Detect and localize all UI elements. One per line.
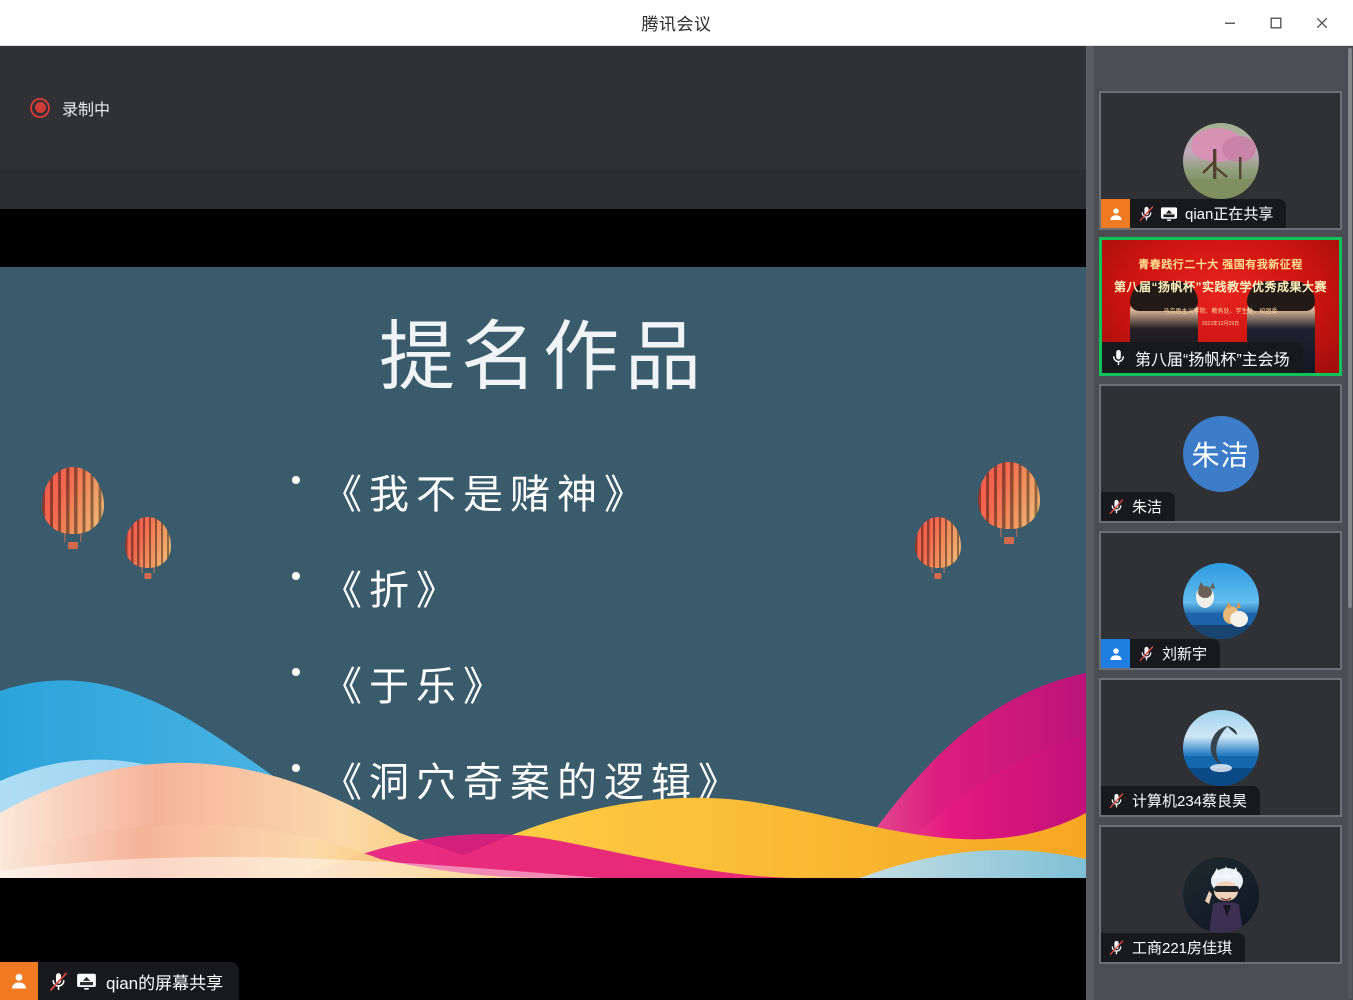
sidebar-scrollbar-thumb[interactable] bbox=[1348, 48, 1352, 608]
mic-muted-icon bbox=[1138, 205, 1155, 222]
slide-bullet-item: 《折》 bbox=[290, 558, 745, 616]
cohost-badge-icon bbox=[1101, 639, 1130, 668]
minimize-icon bbox=[1222, 15, 1238, 31]
app-body: 录制中 提名作品 《我不是赌神》 《折》 《于乐》 bbox=[0, 46, 1353, 1000]
participant-tile-main-venue[interactable]: 青春践行二十大 强国有我新征程 第八届“扬帆杯”实践教学优秀成果大赛 马克思主义… bbox=[1099, 237, 1342, 376]
mic-muted-icon bbox=[1108, 498, 1125, 515]
shared-slide: 提名作品 《我不是赌神》 《折》 《于乐》 《洞穴奇案的逻辑》 bbox=[0, 267, 1086, 878]
maximize-icon bbox=[1268, 15, 1284, 31]
minimize-button[interactable] bbox=[1207, 1, 1253, 45]
participant-nameplate: 第八届“扬帆杯”主会场 bbox=[1102, 342, 1303, 373]
host-badge-icon bbox=[1101, 199, 1130, 228]
participant-name-label: 朱洁 bbox=[1132, 496, 1162, 517]
participant-name-label: 第八届“扬帆杯”主会场 bbox=[1135, 346, 1290, 370]
mic-on-icon bbox=[1109, 348, 1128, 367]
screen-share-icon bbox=[1160, 206, 1178, 222]
presenter-status-icons bbox=[48, 971, 97, 992]
avatar-photo-anime bbox=[1183, 857, 1259, 933]
participant-tile-fangjiaqi[interactable]: 工商221房佳琪 bbox=[1099, 825, 1342, 964]
presenter-name-label: qian的屏幕共享 bbox=[106, 969, 223, 994]
hot-air-balloon-icon bbox=[978, 462, 1040, 544]
colorful-wave-ribbons-icon bbox=[0, 663, 1086, 878]
participant-name-label: 计算机234蔡良昊 bbox=[1132, 790, 1247, 811]
participant-tile-zhujie[interactable]: 朱洁 朱洁 bbox=[1099, 384, 1342, 523]
recording-bar: 录制中 bbox=[0, 46, 1086, 169]
mic-muted-icon bbox=[1138, 645, 1155, 662]
close-icon bbox=[1314, 15, 1330, 31]
participant-tile-liuxinyu[interactable]: 刘新宇 bbox=[1099, 531, 1342, 670]
mic-muted-icon bbox=[1108, 939, 1125, 956]
screen-share-stage[interactable]: 录制中 提名作品 《我不是赌神》 《折》 《于乐》 bbox=[0, 46, 1086, 1000]
window-controls bbox=[1207, 0, 1345, 46]
record-icon bbox=[30, 98, 50, 118]
banner-line-2: 第八届“扬帆杯”实践教学优秀成果大赛 bbox=[1102, 278, 1339, 295]
slide-title: 提名作品 bbox=[0, 295, 1086, 405]
participant-status-icons bbox=[1138, 205, 1178, 222]
recording-label: 录制中 bbox=[62, 96, 110, 120]
avatar-initials: 朱洁 bbox=[1183, 416, 1259, 492]
hot-air-balloon-icon bbox=[125, 517, 171, 579]
close-button[interactable] bbox=[1299, 1, 1345, 45]
presenter-name-strip: qian的屏幕共享 bbox=[0, 962, 239, 1000]
participant-tile-qian[interactable]: qian正在共享 bbox=[1099, 91, 1342, 230]
participant-nameplate: qian正在共享 bbox=[1101, 199, 1286, 228]
banner-line-1: 青春践行二十大 强国有我新征程 bbox=[1102, 256, 1339, 272]
participant-name-label: 工商221房佳琪 bbox=[1132, 937, 1232, 958]
avatar-photo-cherry-blossom bbox=[1183, 123, 1259, 199]
screen-share-icon bbox=[76, 972, 97, 991]
participant-name-label: 刘新宇 bbox=[1162, 643, 1207, 664]
maximize-button[interactable] bbox=[1253, 1, 1299, 45]
letterbox-top bbox=[0, 209, 1086, 267]
hot-air-balloon-icon bbox=[42, 467, 104, 549]
participant-nameplate: 工商221房佳琪 bbox=[1101, 933, 1245, 962]
participant-status-icons bbox=[1138, 645, 1155, 662]
host-badge-icon bbox=[0, 962, 38, 1000]
banner-line-4: 2023年12月29日 bbox=[1102, 320, 1339, 327]
mic-muted-icon bbox=[1108, 792, 1125, 809]
participant-nameplate: 朱洁 bbox=[1101, 492, 1175, 521]
banner-line-3: 马克思主义学院、教务处、学生处、校团委 bbox=[1102, 306, 1339, 315]
avatar-photo-cats-beach bbox=[1183, 563, 1259, 639]
participant-sidebar[interactable]: qian正在共享 青春践行二十大 强国有我新征程 第八届“扬帆杯”实践教学优秀成… bbox=[1094, 46, 1353, 1000]
participant-tile-cailianghao[interactable]: 计算机234蔡良昊 bbox=[1099, 678, 1342, 817]
hot-air-balloon-icon bbox=[915, 517, 961, 579]
participant-nameplate: 刘新宇 bbox=[1101, 639, 1220, 668]
participant-name-label: qian正在共享 bbox=[1185, 203, 1273, 224]
avatar-photo-dolphin bbox=[1183, 710, 1259, 786]
participant-nameplate: 计算机234蔡良昊 bbox=[1101, 786, 1260, 815]
slide-bullet-item: 《我不是赌神》 bbox=[290, 462, 745, 520]
mic-muted-icon bbox=[48, 971, 69, 992]
stage-sidebar-divider[interactable] bbox=[1086, 46, 1094, 1000]
window-title: 腾讯会议 bbox=[642, 10, 712, 35]
window-titlebar: 腾讯会议 bbox=[0, 0, 1353, 46]
